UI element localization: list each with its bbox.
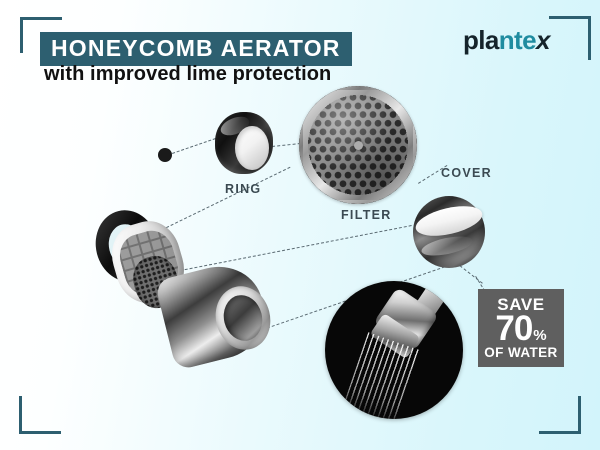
page-subtitle: with improved lime protection — [44, 63, 331, 86]
badge-of-water-label: OF WATER — [478, 346, 564, 360]
brand-logo: plantex — [463, 27, 550, 53]
water-stream-inset-photo — [325, 281, 463, 419]
part-label-ring: RING — [225, 182, 261, 196]
part-ring-image — [215, 112, 273, 174]
corner-bracket-bottom-right — [539, 396, 581, 434]
bracket-vertical-line — [20, 17, 23, 53]
bracket-horizontal-line — [20, 17, 62, 20]
assembled-aerator-image — [88, 208, 263, 373]
bracket-horizontal-line — [539, 431, 581, 434]
bracket-vertical-line — [19, 396, 22, 434]
badge-percent-row: 70 % — [478, 311, 564, 346]
callout-origin-dot — [158, 148, 172, 162]
logo-text-part1: pla — [463, 25, 499, 55]
part-label-cover: COVER — [441, 166, 492, 180]
ring-inner-face — [235, 126, 269, 170]
part-filter-image — [299, 86, 417, 204]
product-infographic: HONEYCOMB AERATOR with improved lime pro… — [0, 0, 600, 450]
part-cover-image — [413, 196, 485, 268]
badge-percent-number: 70 — [495, 311, 532, 346]
part-label-filter: FILTER — [341, 208, 392, 222]
badge-percent-symbol: % — [533, 328, 546, 343]
bracket-vertical-line — [588, 16, 591, 60]
logo-text-part3: x — [536, 25, 550, 55]
leader-line-dot-to-ring — [172, 138, 216, 154]
filter-metal-rim — [299, 86, 417, 204]
bracket-horizontal-line — [19, 431, 61, 434]
bracket-vertical-line — [578, 396, 581, 434]
corner-bracket-bottom-left — [19, 396, 61, 434]
status-badge: SAVE 70 % OF WATER — [478, 289, 564, 367]
page-title: HONEYCOMB AERATOR — [40, 32, 352, 66]
bracket-horizontal-line — [549, 16, 591, 19]
logo-text-part2: nte — [499, 25, 536, 55]
corner-bracket-top-right — [549, 16, 591, 60]
